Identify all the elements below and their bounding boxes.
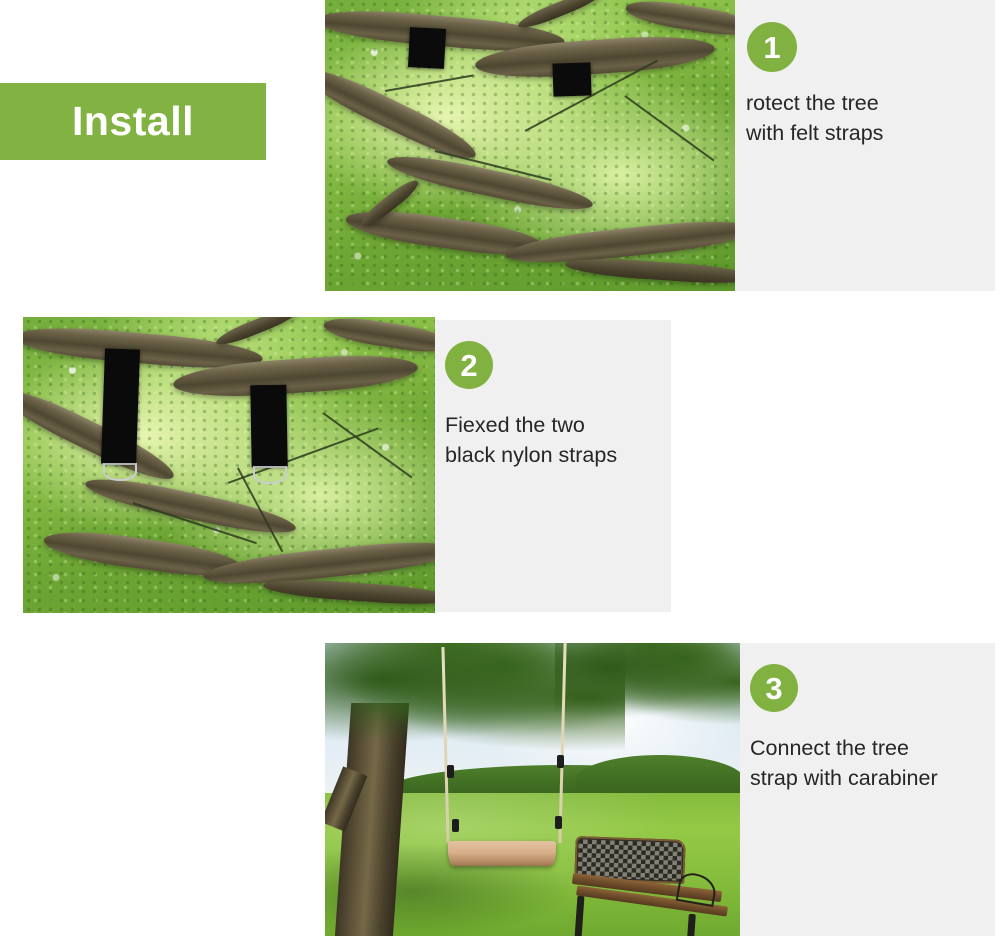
park-bench (570, 838, 740, 936)
rope-clip-left-lower (452, 819, 459, 832)
rope-clip-right-upper (557, 755, 564, 768)
rope-clip-left-upper (447, 765, 454, 778)
step-3-caption: Connect the tree strap with carabiner (750, 733, 1000, 793)
install-banner-label: Install (72, 101, 194, 142)
bench-armrest (676, 871, 719, 907)
step-1-badge: 1 (747, 22, 797, 72)
d-ring-right (253, 466, 287, 484)
step-2-caption: Fiexed the two black nylon straps (445, 410, 671, 470)
step-1-photo (325, 0, 735, 291)
rope-clip-right-lower (555, 816, 562, 829)
felt-strap-right (552, 62, 591, 96)
step-2-photo (23, 317, 435, 613)
step-2-text-panel: 2 Fiexed the two black nylon straps (435, 320, 671, 612)
step-3-text-panel: 3 Connect the tree strap with carabiner (740, 643, 995, 936)
nylon-strap-left (101, 348, 140, 464)
felt-strap-left (408, 27, 446, 69)
tree-foliage-right (555, 643, 740, 725)
step-3-photo (325, 643, 740, 936)
step-2-badge: 2 (445, 341, 493, 389)
step-1-text-panel: 1 rotect the tree with felt straps (735, 0, 995, 291)
step-3-badge: 3 (750, 664, 798, 712)
nylon-strap-right (250, 385, 287, 468)
d-ring-left (103, 463, 137, 481)
swing-seat (448, 841, 556, 866)
step-1-caption: rotect the tree with felt straps (746, 88, 986, 148)
install-banner: Install (0, 83, 266, 160)
bench-leg-right (687, 914, 696, 936)
bench-leg-left (575, 896, 585, 936)
